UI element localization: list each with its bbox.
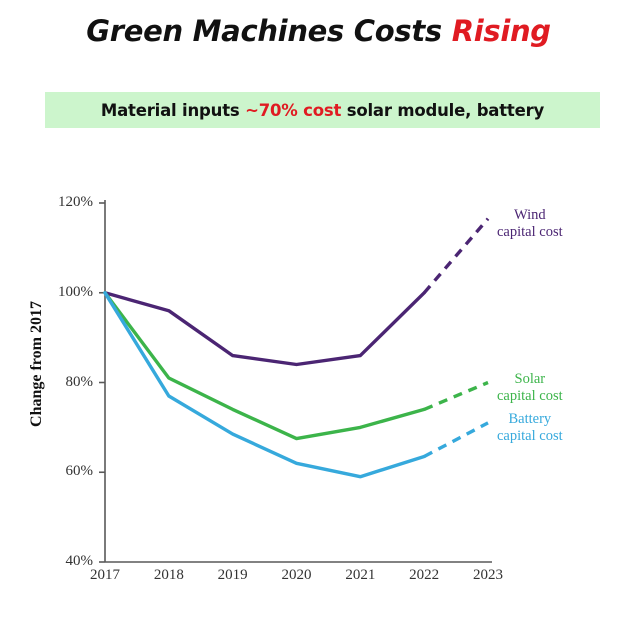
y-axis-title: Change from 2017 [28,284,46,444]
y-axis-tick-label: 80% [37,374,93,391]
chart-series-group [105,219,488,477]
series-line-solid [105,293,424,477]
series-label-line1: Battery [497,411,563,428]
x-axis-tick-label: 2022 [394,567,454,584]
series-label-line1: Wind [497,207,563,224]
y-axis-tick-label: 100% [37,284,93,301]
series-line-forecast-dashed [424,383,488,410]
chart-canvas [0,0,637,618]
series-label-wind: Windcapital cost [497,207,563,241]
x-axis-tick-label: 2017 [75,567,135,584]
series-line-forecast-dashed [424,423,488,457]
y-axis-tick-marks [99,203,105,562]
line-chart: Change from 2017 120%100%80%60%40% 20172… [0,0,637,618]
series-label-line2: capital cost [497,428,563,445]
series-label-solar: Solarcapital cost [497,371,563,405]
x-axis-tick-label: 2020 [267,567,327,584]
chart-page: Green Machines Costs Rising Material inp… [0,0,637,618]
series-line-solid [105,293,424,439]
series-label-line1: Solar [497,371,563,388]
x-axis-tick-label: 2019 [203,567,263,584]
y-axis-tick-label: 60% [37,463,93,480]
chart-axes [105,200,492,562]
series-label-line2: capital cost [497,224,563,241]
x-axis-tick-label: 2021 [330,567,390,584]
series-label-line2: capital cost [497,388,563,405]
series-line-forecast-dashed [424,219,488,293]
series-line-solid [105,293,424,365]
x-axis-tick-label: 2018 [139,567,199,584]
series-label-battery: Batterycapital cost [497,411,563,445]
x-axis-tick-label: 2023 [458,567,518,584]
y-axis-tick-label: 120% [37,194,93,211]
